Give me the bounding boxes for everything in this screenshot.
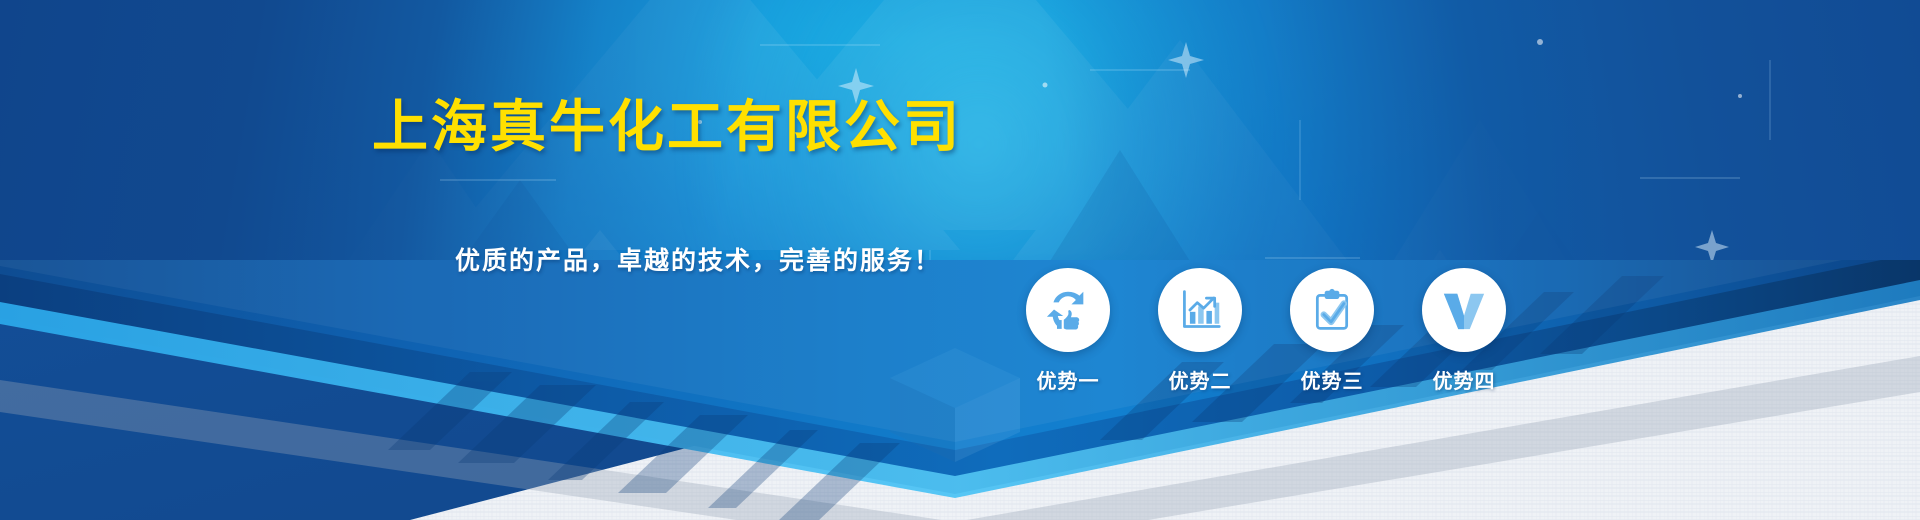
slogan-text: 优质的产品，卓越的技术，完善的服务！ [455, 241, 941, 277]
bottom-chevron-ribbon [0, 260, 1920, 520]
advantage-item-2[interactable]: 优势二 [1154, 268, 1246, 394]
advantage-item-1[interactable]: 优势一 [1022, 268, 1114, 394]
advantage-icon-circle-4 [1422, 268, 1506, 352]
letter-v-icon [1441, 287, 1487, 333]
advantage-label-4: 优势四 [1433, 365, 1496, 394]
advantage-label-2: 优势二 [1169, 365, 1232, 394]
bar-chart-growth-icon [1178, 288, 1222, 332]
advantage-icon-circle-2 [1158, 268, 1242, 352]
advantage-icon-circle-1 [1026, 268, 1110, 352]
page-title: 上海真牛化工有限公司 [372, 97, 962, 160]
advantages-list: 优势一 优势二 [1022, 268, 1510, 394]
advantage-icon-circle-3 [1290, 268, 1374, 352]
advantage-label-3: 优势三 [1301, 365, 1364, 394]
clipboard-check-icon [1310, 288, 1354, 332]
advantage-item-4[interactable]: 优势四 [1418, 268, 1510, 394]
refresh-thumbs-up-icon [1045, 287, 1091, 333]
advantage-label-1: 优势一 [1037, 365, 1100, 394]
advantage-item-3[interactable]: 优势三 [1286, 268, 1378, 394]
company-hero-banner: 上海真牛化工有限公司 优质的产品，卓越的技术，完善的服务！ 优势一 [0, 0, 1920, 520]
